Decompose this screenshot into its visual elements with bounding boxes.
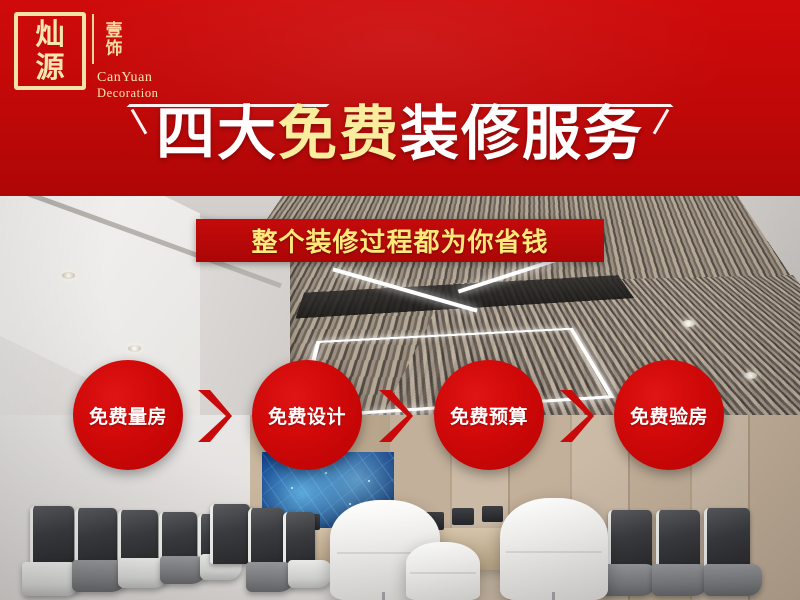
page-title: 四大免费装修服务: [0, 104, 800, 163]
title-part-1: 四大: [156, 99, 278, 168]
chair-seat: [704, 564, 762, 596]
downlight-icon: [682, 320, 695, 327]
vertical-seal-icon: 壹 饰: [97, 14, 131, 66]
service-badge-4-label: 免费验房: [630, 402, 708, 429]
chevron-right-icon: [196, 388, 234, 444]
chair-back: [30, 506, 74, 566]
chair-back: [75, 508, 117, 566]
service-badge-3[interactable]: 免费预算: [434, 360, 544, 470]
chair-leg: [382, 592, 385, 600]
service-badges-row: 免费量房 免费设计 免费预算 免费验房: [0, 360, 800, 470]
logo-divider: [92, 14, 94, 64]
chair-back: [283, 512, 315, 564]
brand-english-name: CanYuan Decoration: [97, 70, 159, 100]
chair-seat: [600, 564, 656, 596]
chair-back: [608, 510, 652, 568]
seal-char-1: 灿: [21, 19, 79, 51]
chevron-right-icon: [558, 388, 596, 444]
service-badge-1-label: 免费量房: [89, 402, 167, 429]
seal-stamp-icon: 灿 源: [14, 12, 86, 90]
chair-leg: [552, 592, 555, 600]
chair-back: [656, 510, 700, 568]
chair-back: [210, 504, 250, 564]
headline-container: 四大免费装修服务: [0, 104, 800, 163]
monitor-icon: [482, 506, 503, 522]
brand-en-line1: CanYuan: [97, 70, 159, 86]
vertical-seal-char-2: 饰: [106, 41, 123, 57]
poster-header: 灿 源 壹 饰 CanYuan Decoration 四大免费装修服务: [0, 0, 800, 196]
brand-en-line2: Decoration: [97, 86, 159, 100]
seal-char-2: 源: [21, 52, 79, 84]
executive-chair: [406, 542, 480, 600]
chair-back: [248, 508, 284, 564]
chair-seat: [288, 560, 332, 588]
service-badge-1[interactable]: 免费量房: [73, 360, 183, 470]
subtitle-text: 整个装修过程都为你省钱: [251, 222, 548, 259]
chair-seat: [652, 564, 708, 596]
service-badge-3-label: 免费预算: [450, 402, 528, 429]
service-badge-2-label: 免费设计: [268, 402, 346, 429]
downlight-icon: [62, 272, 75, 279]
chair-back: [704, 508, 750, 568]
brand-text-block: 壹 饰 CanYuan Decoration: [97, 12, 159, 100]
executive-chair: [500, 498, 608, 600]
downlight-icon: [128, 345, 141, 352]
chair-seat: [246, 562, 294, 592]
title-part-2: 免费: [278, 99, 400, 168]
monitor-icon: [452, 508, 474, 525]
title-part-3: 装修服务: [400, 99, 644, 168]
chevron-right-icon: [377, 388, 415, 444]
service-badge-2[interactable]: 免费设计: [252, 360, 362, 470]
promotional-poster: 灿 源 壹 饰 CanYuan Decoration 四大免费装修服务: [0, 0, 800, 600]
service-badge-4[interactable]: 免费验房: [614, 360, 724, 470]
subtitle-banner: 整个装修过程都为你省钱: [196, 219, 604, 262]
brand-logo: 灿 源 壹 饰 CanYuan Decoration: [14, 12, 159, 100]
vertical-seal-char-1: 壹: [106, 23, 123, 39]
